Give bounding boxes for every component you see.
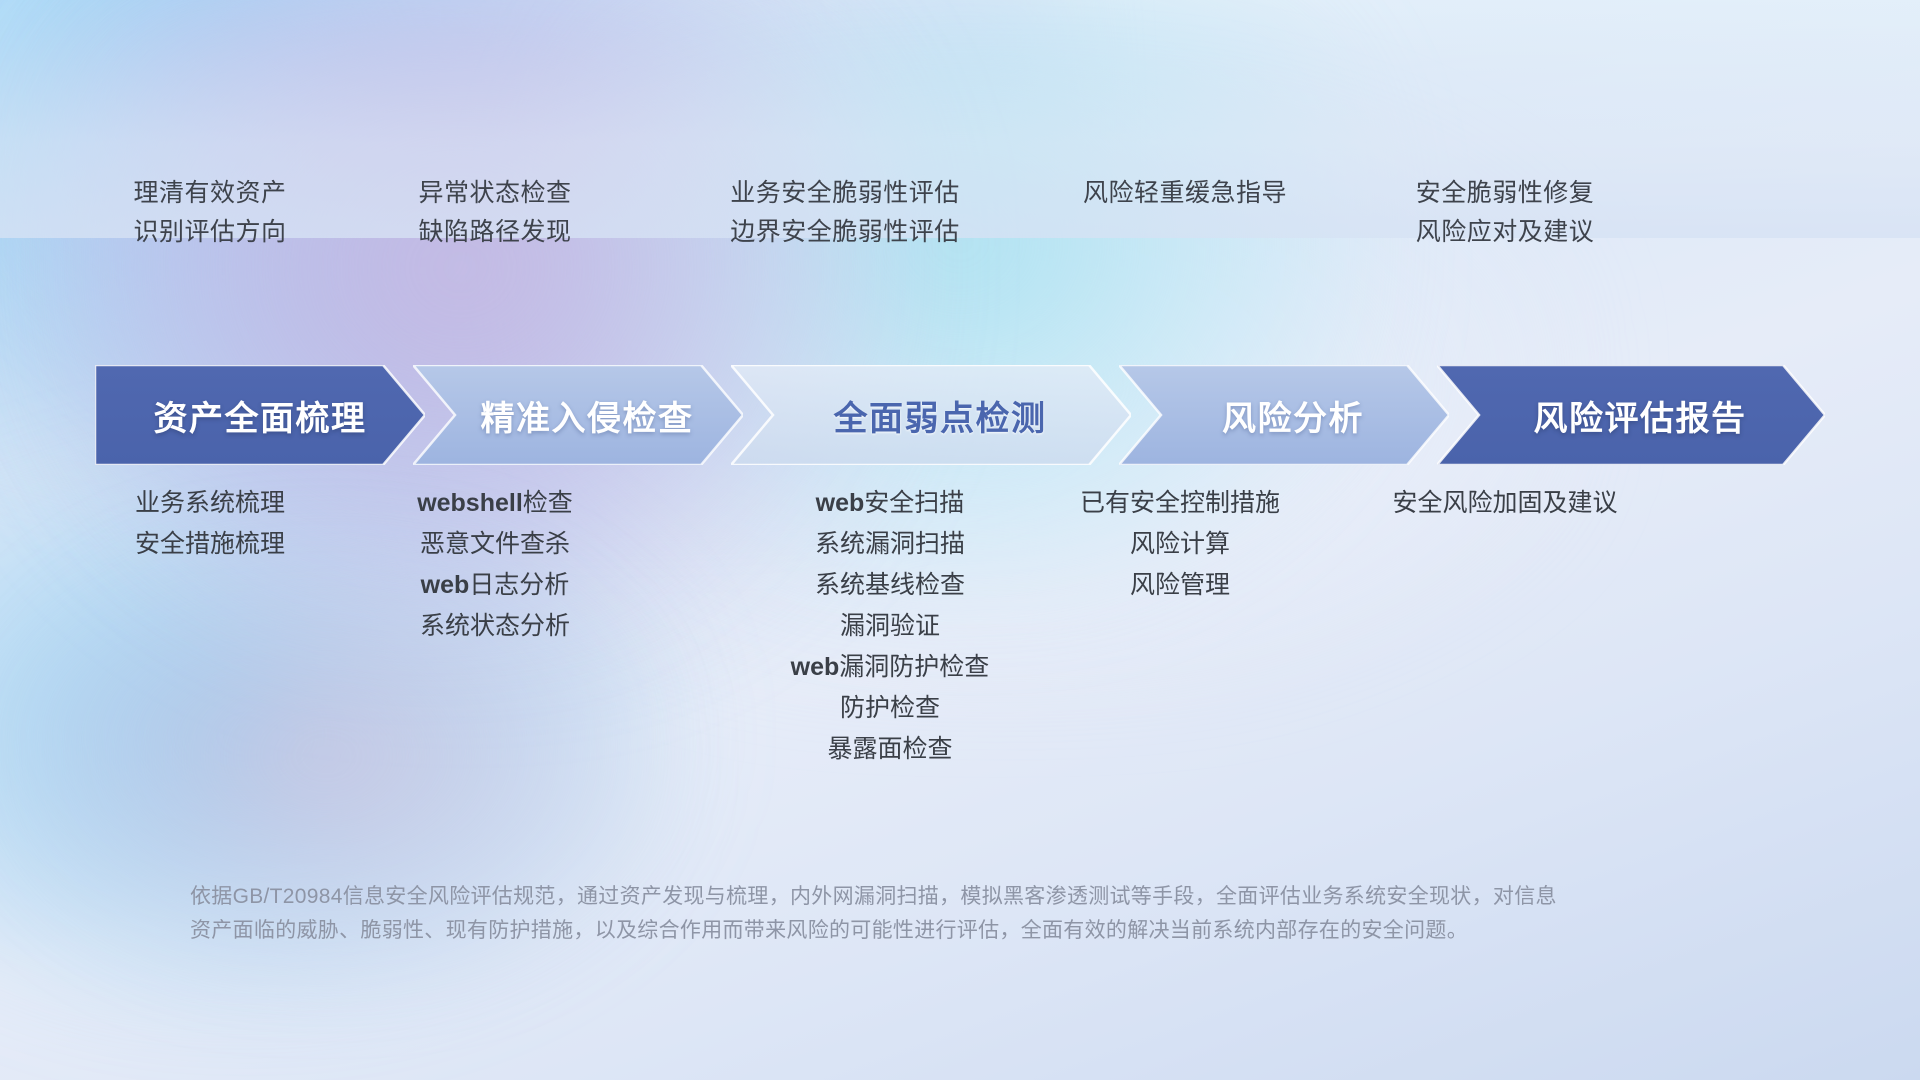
stage-chevron-banner: 资产全面梳理精准入侵检查全面弱点检测风险分析风险评估报告 (95, 365, 1825, 465)
process-flow-diagram: 理清有效资产识别评估方向异常状态检查缺陷路径发现业务安全脆弱性评估边界安全脆弱性… (95, 0, 1825, 1080)
stage-outputs-assessment-report: 安全风险加固及建议 (1305, 490, 1705, 517)
stage-chevron-asset-inventory[interactable]: 资产全面梳理 (95, 365, 425, 465)
stage-outputs-intrusion-check: webshell检查恶意文件查杀web日志分析系统状态分析 (295, 490, 695, 640)
stage-chevron-assessment-report[interactable]: 风险评估报告 (1437, 365, 1825, 465)
footer-description: 依据GB/T20984信息安全风险评估规范，通过资产发现与梳理，内外网漏洞扫描，… (190, 880, 1700, 948)
stage-title-asset-inventory: 资产全面梳理 (154, 391, 367, 440)
stage-chevron-risk-analysis[interactable]: 风险分析 (1119, 365, 1449, 465)
stage-title-risk-analysis: 风险分析 (1222, 391, 1364, 440)
stage-output-item: 风险管理 (980, 572, 1380, 599)
footer-line-1: 依据GB/T20984信息安全风险评估规范，通过资产发现与梳理，内外网漏洞扫描，… (190, 880, 1700, 914)
stage-inputs-assessment-report: 安全脆弱性修复风险应对及建议 (1305, 180, 1705, 246)
stage-output-item: 风险计算 (980, 531, 1380, 558)
stage-output-item: web日志分析 (295, 572, 695, 599)
stage-output-item: webshell检查 (295, 490, 695, 517)
stage-chevron-weakness-detection[interactable]: 全面弱点检测 (731, 365, 1131, 465)
stage-title-weakness-detection: 全面弱点检测 (834, 391, 1047, 440)
stage-output-item: 系统状态分析 (295, 613, 695, 640)
stage-chevron-intrusion-check[interactable]: 精准入侵检查 (413, 365, 743, 465)
stage-input-item: 异常状态检查 (295, 180, 695, 206)
stage-inputs-row: 理清有效资产识别评估方向异常状态检查缺陷路径发现业务安全脆弱性评估边界安全脆弱性… (95, 180, 1825, 290)
stage-output-item: 防护检查 (690, 695, 1090, 722)
stage-input-item: 缺陷路径发现 (295, 219, 695, 245)
stage-title-assessment-report: 风险评估报告 (1534, 391, 1747, 440)
stage-output-item: 恶意文件查杀 (295, 531, 695, 558)
stage-output-item: 漏洞验证 (690, 613, 1090, 640)
stage-output-item: 暴露面检查 (690, 736, 1090, 763)
stage-input-item: 边界安全脆弱性评估 (645, 219, 1045, 245)
stage-input-item: 风险应对及建议 (1305, 219, 1705, 245)
stage-inputs-intrusion-check: 异常状态检查缺陷路径发现 (295, 180, 695, 246)
stage-output-item: web漏洞防护检查 (690, 654, 1090, 681)
stage-output-item: 安全风险加固及建议 (1305, 490, 1705, 517)
footer-line-2: 资产面临的威胁、脆弱性、现有防护措施，以及综合作用而带来风险的可能性进行评估，全… (190, 914, 1700, 948)
stage-title-intrusion-check: 精准入侵检查 (481, 391, 694, 440)
stage-input-item: 安全脆弱性修复 (1305, 180, 1705, 206)
